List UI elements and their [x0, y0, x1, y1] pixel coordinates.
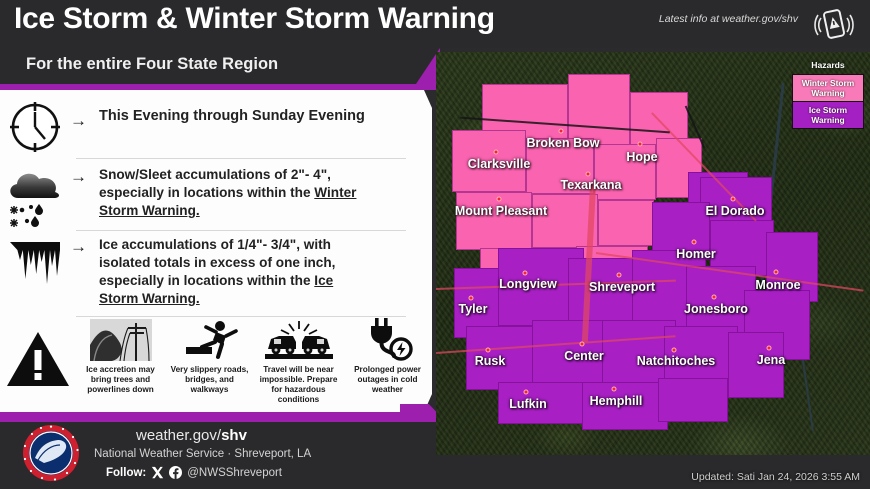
- hazard-slippery: Very slippery roads, bridges, and walkwa…: [165, 318, 254, 395]
- city-label: Longview: [499, 277, 557, 291]
- city-dot: [486, 348, 491, 353]
- city-label: Hemphill: [590, 394, 643, 408]
- city-label: Monroe: [755, 278, 800, 292]
- city-label: Rusk: [475, 354, 506, 368]
- city-label: Jena: [757, 353, 786, 367]
- power-plug-icon: [361, 318, 415, 362]
- bullet-time-text: This Evening through Sunday Evening: [99, 107, 365, 126]
- city-dot: [497, 197, 502, 202]
- header-bar: Ice Storm & Winter Storm Warning Latest …: [0, 0, 870, 48]
- hazard-map[interactable]: Broken BowClarksvilleHopeTexarkanaMount …: [436, 52, 870, 489]
- hazard-powerline: Ice accretion may bring trees and powerl…: [76, 318, 165, 395]
- fallen-powerline-icon: [90, 318, 152, 362]
- city-label: Hope: [626, 150, 657, 164]
- footer-website[interactable]: weather.gov/shv: [136, 427, 247, 444]
- city-dot: [672, 348, 677, 353]
- city-dot: [523, 271, 528, 276]
- map-legend: Hazards Winter Storm Warning Ice Storm W…: [792, 60, 864, 129]
- x-twitter-icon[interactable]: [151, 466, 164, 479]
- accent-bar-bottom: [0, 412, 424, 422]
- info-panel: → This Evening through Sunday Evening: [0, 90, 432, 412]
- city-dot: [469, 296, 474, 301]
- phone-alert-icon: [814, 6, 854, 42]
- city-dot: [692, 240, 697, 245]
- city-dot: [731, 197, 736, 202]
- subtitle-text: For the entire Four State Region: [26, 55, 278, 74]
- city-label: Center: [564, 349, 604, 363]
- city-label: Natchitoches: [637, 354, 716, 368]
- car-crash-icon: [265, 318, 333, 362]
- city-dot: [638, 142, 643, 147]
- zone-pink-j[interactable]: [598, 200, 654, 246]
- city-label: Mount Pleasant: [455, 204, 547, 218]
- city-label: Broken Bow: [527, 136, 600, 150]
- updated-timestamp: Updated: Sati Jan 24, 2026 3:55 AM: [691, 471, 860, 483]
- hazard-travel-caption: Travel will be near impossible. Prepare …: [256, 365, 341, 405]
- warning-triangle-icon: [5, 330, 71, 388]
- bullet-ice-text-main: Ice accumulations of 1/4"- 3/4", with is…: [99, 237, 335, 288]
- city-dot: [494, 150, 499, 155]
- slip-fall-icon: [182, 318, 238, 362]
- footer-follow-label: Follow:: [106, 467, 146, 479]
- city-label: Shreveport: [589, 280, 655, 294]
- bullet-ice: → Ice accumulations of 1/4"- 3/4", with …: [6, 236, 367, 308]
- clock-icon: [6, 98, 64, 156]
- city-dot: [612, 387, 617, 392]
- legend-item-ice-storm-warning[interactable]: Ice Storm Warning: [792, 102, 864, 129]
- city-dot: [712, 295, 717, 300]
- city-dot: [767, 346, 772, 351]
- city-dot: [524, 390, 529, 395]
- nws-logo: [22, 424, 80, 482]
- arrow-icon: →: [70, 112, 87, 129]
- city-label: El Dorado: [705, 204, 764, 218]
- city-dot: [774, 270, 779, 275]
- hazard-slippery-caption: Very slippery roads, bridges, and walkwa…: [167, 365, 252, 395]
- hazard-power-caption: Prolonged power outages in cold weather: [345, 365, 430, 395]
- divider-2: [76, 230, 406, 231]
- accent-bar-top: [0, 84, 424, 90]
- city-dot: [617, 273, 622, 278]
- hazard-powerline-caption: Ice accretion may bring trees and powerl…: [78, 365, 163, 395]
- legend-item-winter-storm-warning[interactable]: Winter Storm Warning: [792, 74, 864, 102]
- arrow-icon: →: [70, 168, 87, 185]
- zone-pink-h[interactable]: [456, 192, 532, 250]
- city-label: Lufkin: [509, 397, 547, 411]
- hazard-power: Prolonged power outages in cold weather: [343, 318, 432, 395]
- bullet-snow-text-main: Snow/Sleet accumulations of 2"- 4", espe…: [99, 167, 331, 200]
- hazard-strip: Ice accretion may bring trees and powerl…: [0, 318, 432, 412]
- graphic-root: Ice Storm & Winter Storm Warning Latest …: [0, 0, 870, 489]
- city-label: Clarksville: [468, 157, 531, 171]
- divider-1: [76, 158, 406, 159]
- icicles-icon: [6, 236, 64, 298]
- city-dot: [580, 342, 585, 347]
- facebook-icon[interactable]: [169, 466, 182, 479]
- snow-sleet-cloud-icon: [6, 166, 64, 230]
- city-label: Texarkana: [561, 178, 622, 192]
- legend-title: Hazards: [792, 60, 864, 70]
- bullet-snow-text: Snow/Sleet accumulations of 2"- 4", espe…: [99, 166, 357, 220]
- footer-follow: Follow: @NWSShreveport: [106, 466, 282, 479]
- arrow-icon: →: [70, 238, 87, 255]
- zone-purple-s[interactable]: [658, 378, 728, 422]
- city-dot: [559, 129, 564, 134]
- city-label: Jonesboro: [684, 302, 748, 316]
- footer-handle: @NWSShreveport: [187, 467, 282, 479]
- hazard-travel: Travel will be near impossible. Prepare …: [254, 318, 343, 405]
- bullet-time: → This Evening through Sunday Evening: [6, 98, 365, 156]
- page-title: Ice Storm & Winter Storm Warning: [14, 2, 495, 36]
- footer-website-prefix: weather.gov/: [136, 427, 221, 444]
- footer-website-suffix: shv: [221, 427, 247, 444]
- city-label: Tyler: [459, 302, 488, 316]
- bullet-ice-text: Ice accumulations of 1/4"- 3/4", with is…: [99, 236, 367, 308]
- bullet-snow: → Snow/Sleet accumulations of 2"- 4", es…: [6, 166, 357, 230]
- warning-triangle-cell: [0, 318, 76, 400]
- city-label: Homer: [676, 247, 716, 261]
- city-dot: [586, 172, 591, 177]
- divider-3: [76, 316, 406, 317]
- latest-info-text: Latest info at weather.gov/shv: [659, 13, 798, 25]
- subtitle-bar: For the entire Four State Region: [0, 48, 436, 84]
- footer-office: National Weather Service · Shreveport, L…: [94, 448, 311, 460]
